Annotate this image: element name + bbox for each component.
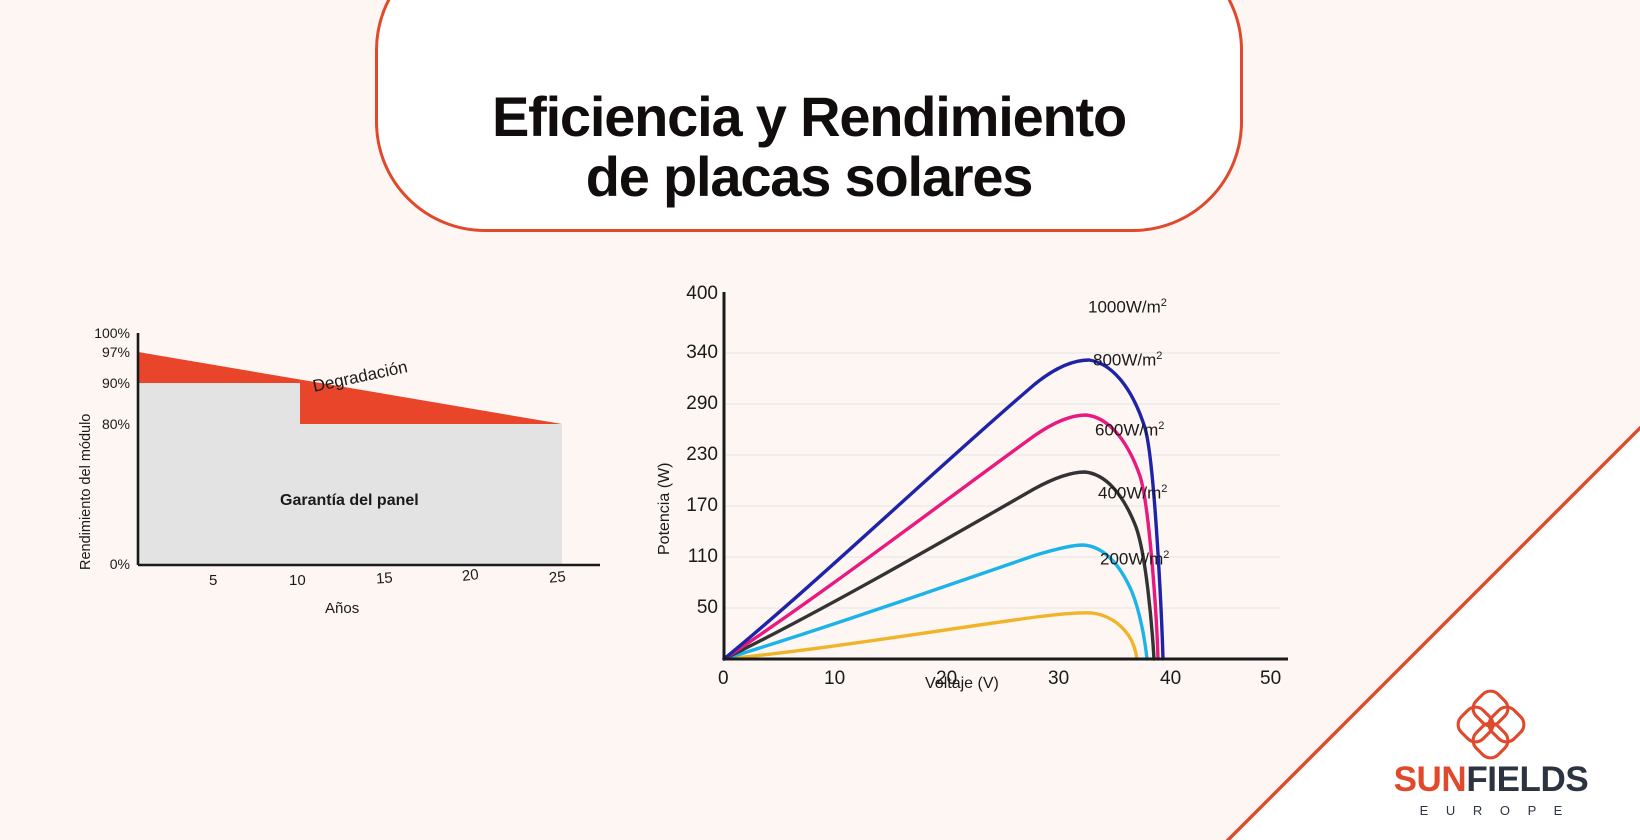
y-tick-label: 90% xyxy=(78,375,130,391)
x-tick-label: 10 xyxy=(824,668,845,690)
x-tick-label: 30 xyxy=(1048,668,1069,690)
y-tick-label: 340 xyxy=(670,342,718,364)
header-card: Eficiencia y Rendimiento de placas solar… xyxy=(375,0,1243,232)
curve-200 xyxy=(724,613,1137,659)
series-label-800: 800W/m2 xyxy=(1093,350,1162,371)
page-title: Eficiencia y Rendimiento de placas solar… xyxy=(492,87,1126,207)
x-tick-label: 5 xyxy=(209,572,217,589)
y-tick-label: 100% xyxy=(78,325,130,341)
x-tick-label: 50 xyxy=(1260,668,1281,690)
curve-400 xyxy=(724,545,1147,659)
logo: SUNFIELDS E U R O P E xyxy=(1356,688,1626,818)
chart-degradation: Rendimiento del módulo 100% 97% 90% 80% … xyxy=(60,295,620,635)
y-tick-label: 170 xyxy=(670,495,718,517)
y-tick-label: 290 xyxy=(670,393,718,415)
y-tick-label: 97% xyxy=(78,344,130,360)
y-tick-label: 0% xyxy=(78,556,130,572)
power-plot xyxy=(640,280,1320,680)
y-tick-label: 400 xyxy=(670,283,718,305)
logo-word-fields: FIELDS xyxy=(1466,760,1588,799)
page-title-line1: Eficiencia y Rendimiento xyxy=(492,85,1126,148)
x-tick-label: 40 xyxy=(1160,668,1181,690)
x-tick-label: 15 xyxy=(375,569,393,587)
series-label-600: 600W/m2 xyxy=(1095,420,1164,441)
chart-power-voltage: Potencia (W) 400 340 290 230 170 110 50 … xyxy=(640,280,1320,710)
y-tick-label: 80% xyxy=(78,416,130,432)
degradation-plot xyxy=(60,295,620,595)
x-tick-label: 20 xyxy=(461,566,480,585)
gridlines xyxy=(724,353,1280,608)
power-x-axis-title: Voltaje (V) xyxy=(925,675,999,693)
four-petal-flower-icon xyxy=(1451,688,1531,760)
series-label-200: 200W/m2 xyxy=(1100,549,1169,570)
x-tick-label: 10 xyxy=(289,572,306,589)
x-tick-label: 25 xyxy=(548,568,566,586)
page-title-line2: de placas solares xyxy=(492,147,1126,207)
y-tick-label: 230 xyxy=(670,444,718,466)
annotation-garantia: Garantía del panel xyxy=(280,492,419,510)
y-tick-label: 50 xyxy=(670,597,718,619)
logo-subtitle: E U R O P E xyxy=(1356,803,1626,818)
y-tick-label: 110 xyxy=(670,546,718,568)
x-tick-label: 0 xyxy=(718,668,729,690)
curve-800 xyxy=(724,415,1158,659)
degradation-x-axis-title: Años xyxy=(325,600,359,617)
logo-word-sun: SUN xyxy=(1394,760,1467,799)
series-label-400: 400W/m2 xyxy=(1098,483,1167,504)
logo-wordmark: SUNFIELDS xyxy=(1356,762,1626,797)
series-label-1000: 1000W/m2 xyxy=(1088,297,1167,318)
degradation-y-axis-title: Rendimiento del módulo xyxy=(78,414,94,570)
